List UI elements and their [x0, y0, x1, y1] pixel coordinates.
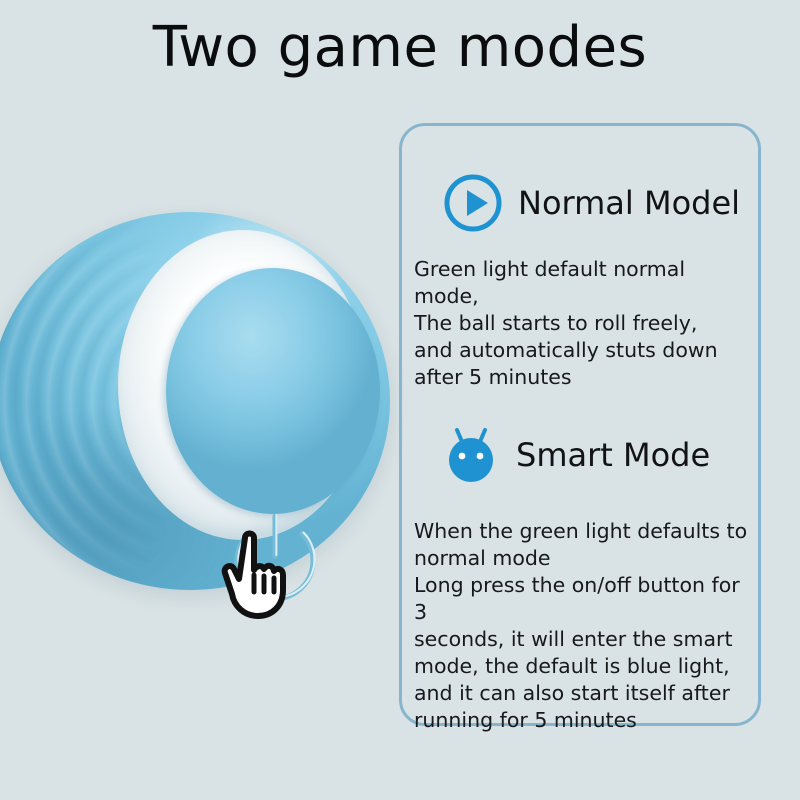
mode-title-smart: Smart Mode: [516, 436, 710, 474]
mode-description-smart: When the green light defaults to normal …: [414, 518, 758, 734]
pointing-hand-cursor-icon: [212, 526, 298, 622]
mode-header-smart: Smart Mode: [440, 424, 710, 486]
android-robot-head-icon: [440, 424, 502, 486]
play-circle-icon: [442, 172, 504, 234]
mode-header-normal: Normal Model: [442, 172, 740, 234]
mode-title-normal: Normal Model: [518, 184, 740, 222]
ball-power-button[interactable]: [166, 268, 380, 514]
page-title: Two game modes: [0, 14, 800, 82]
mode-description-normal: Green light default normal mode, The bal…: [414, 256, 754, 391]
infographic-root: Two game modes: [0, 0, 800, 800]
product-image: [0, 212, 390, 594]
